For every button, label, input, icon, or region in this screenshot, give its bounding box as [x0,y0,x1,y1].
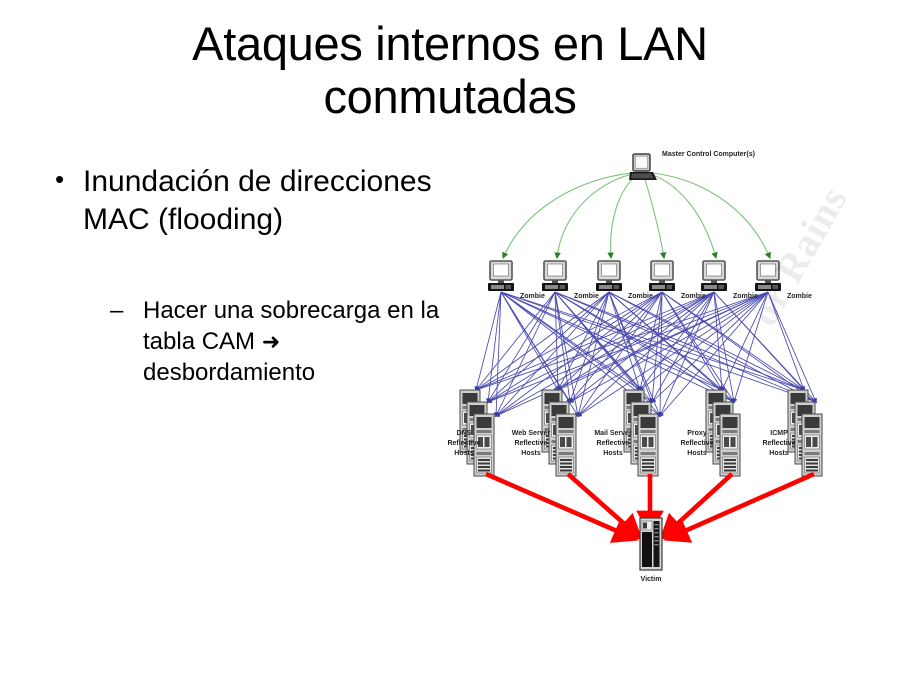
zombie-label-6: Zombie [787,292,812,302]
bullet-level2-text-after: desbordamiento [143,359,315,386]
slide-canvas: Ataques internos en LAN conmutadas • Inu… [0,0,900,675]
right-arrow-icon: ➜ [262,330,280,355]
reflective-host-label-dns: DNS Reflective Hosts [444,429,484,459]
bullet-marker-dash: – [110,295,123,326]
victim-label: Victim [634,575,668,585]
zombie-label-4: Zombie [681,292,706,302]
diagram-graphics [440,140,900,610]
reflective-host-label-proxy: Proxy Reflective Hosts [674,429,720,459]
bullet-level1-text: Inundación de direcciones MAC (flooding) [83,165,432,236]
zombie-label-5: Zombie [733,292,758,302]
bullet-level2-text-before: Hacer una sobrecarga en la tabla CAM [143,297,439,355]
page-title-line-2: conmutadas [60,71,840,124]
zombie-label-2: Zombie [574,292,599,302]
master-control-computer-icon [629,154,657,180]
victim-server-icon [640,518,662,570]
ddos-reflection-diagram: Master Control Computer(s) Zombie Zombie… [440,140,900,610]
bullet-level2: – Hacer una sobrecarga en la tabla CAM ➜… [38,295,448,389]
reflective-host-label-mail-server: Mail Server Reflective Hosts [588,429,638,459]
zombie-hosts [488,261,781,291]
attack-mesh-links [476,292,816,416]
control-channel-links [503,172,770,258]
page-title-line-1: Ataques internos en LAN [60,18,840,71]
page-title: Ataques internos en LAN conmutadas [60,18,840,123]
master-control-label: Master Control Computer(s) [662,150,755,160]
content-body: • Inundación de direcciones MAC (floodin… [38,163,448,389]
reflective-host-label-icmp: ICMP Reflective Hosts [756,429,802,459]
bullet-level1: • Inundación de direcciones MAC (floodin… [38,163,448,239]
reflective-host-label-web-server: Web Server Reflective Hosts [506,429,556,459]
zombie-label-3: Zombie [628,292,653,302]
bullet-marker-dot: • [55,162,64,197]
zombie-label-1: Zombie [520,292,545,302]
